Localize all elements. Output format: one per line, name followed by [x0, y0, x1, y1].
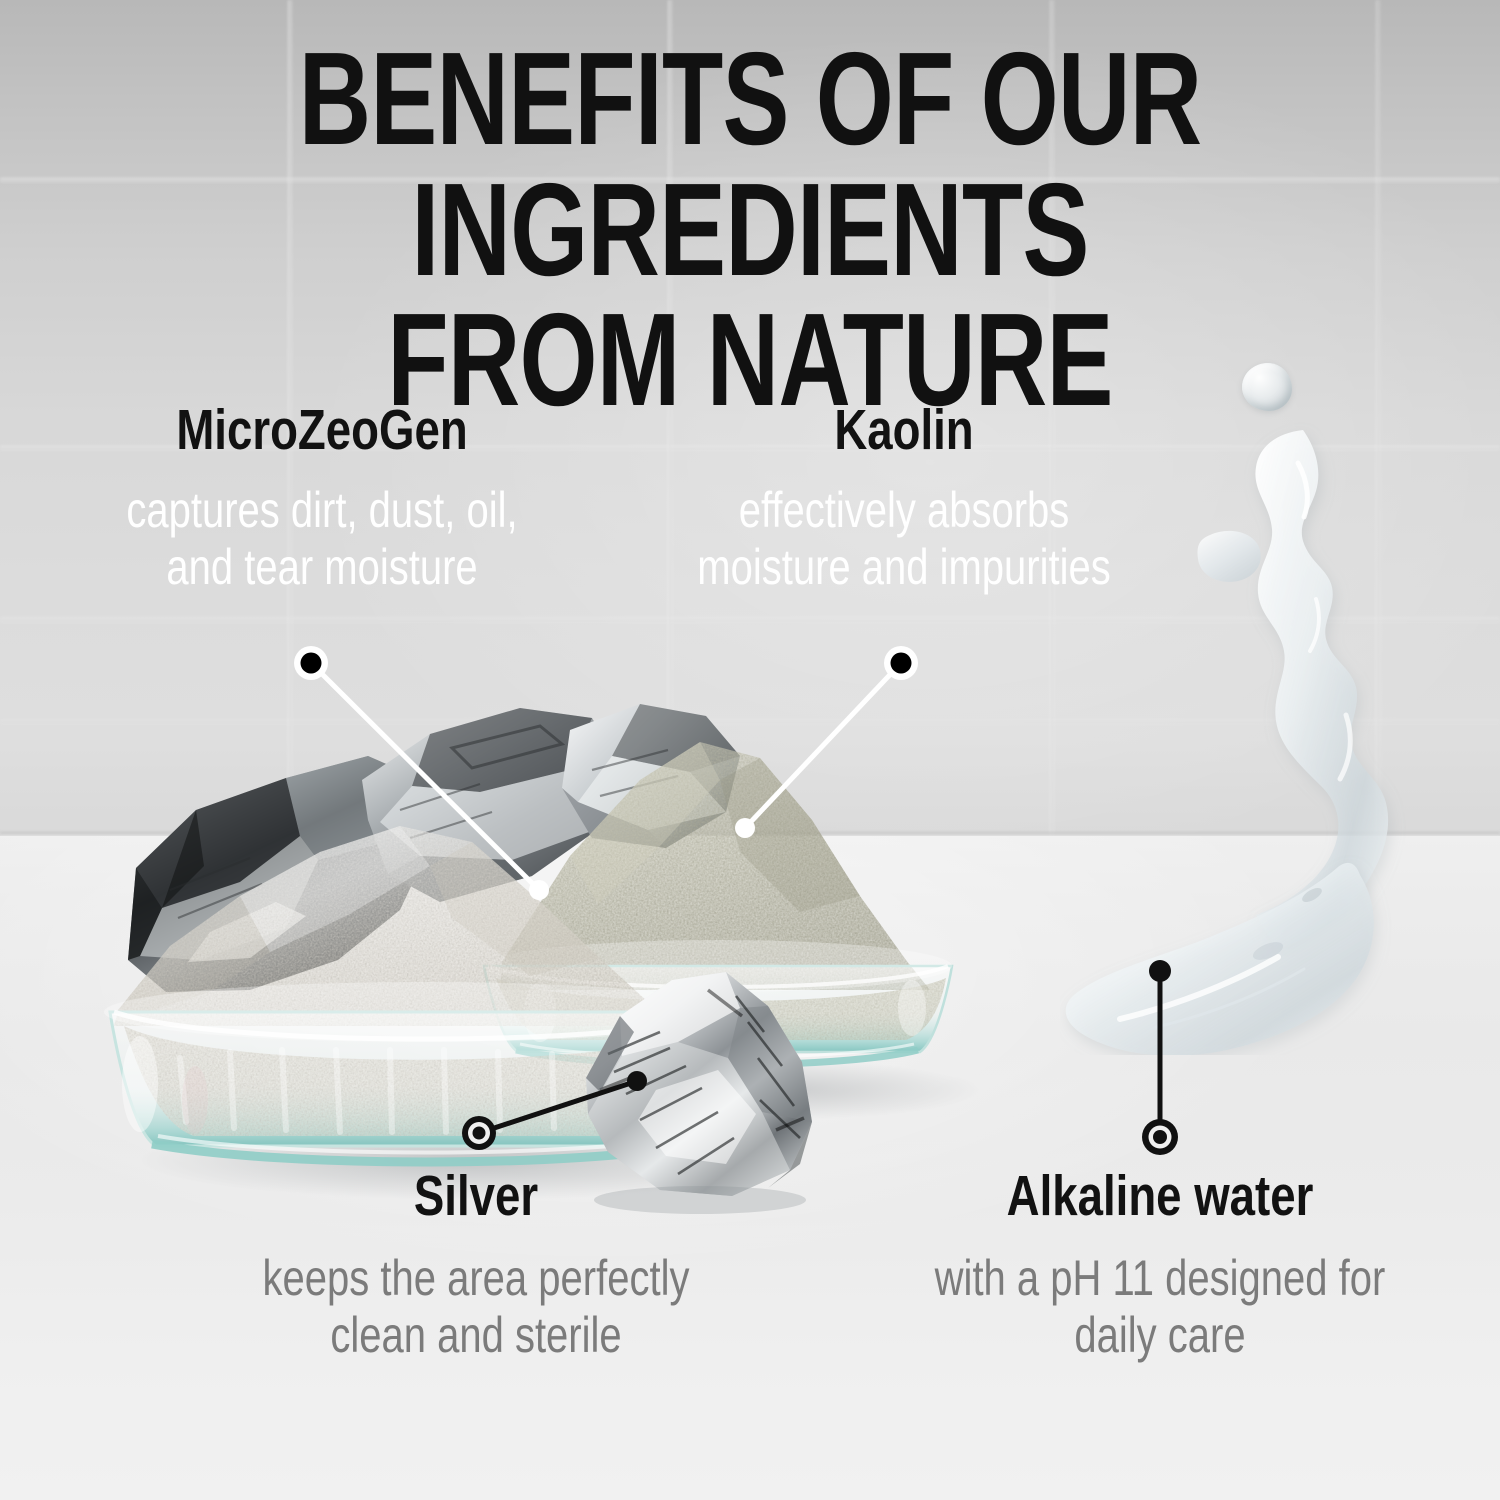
ingredient-description-silver: keeps the area perfectly clean and steri…	[76, 1250, 876, 1363]
page-title: BENEFITS OF OUR INGREDIENTS FROM NATURE	[180, 34, 1320, 426]
ingredient-name-silver: Silver	[76, 1168, 876, 1225]
ingredient-description-alkaline-water: with a pH 11 designed for daily care	[760, 1250, 1500, 1363]
ingredient-name-alkaline-water: Alkaline water	[760, 1168, 1500, 1225]
ingredient-name-kaolin: Kaolin	[504, 402, 1304, 459]
infographic-canvas: BENEFITS OF OUR INGREDIENTS FROM NATURE …	[0, 0, 1500, 1500]
ingredient-product-photo	[100, 660, 1000, 1220]
water-splash-image	[1060, 355, 1500, 1055]
ingredient-description-kaolin: effectively absorbs moisture and impurit…	[504, 482, 1304, 595]
